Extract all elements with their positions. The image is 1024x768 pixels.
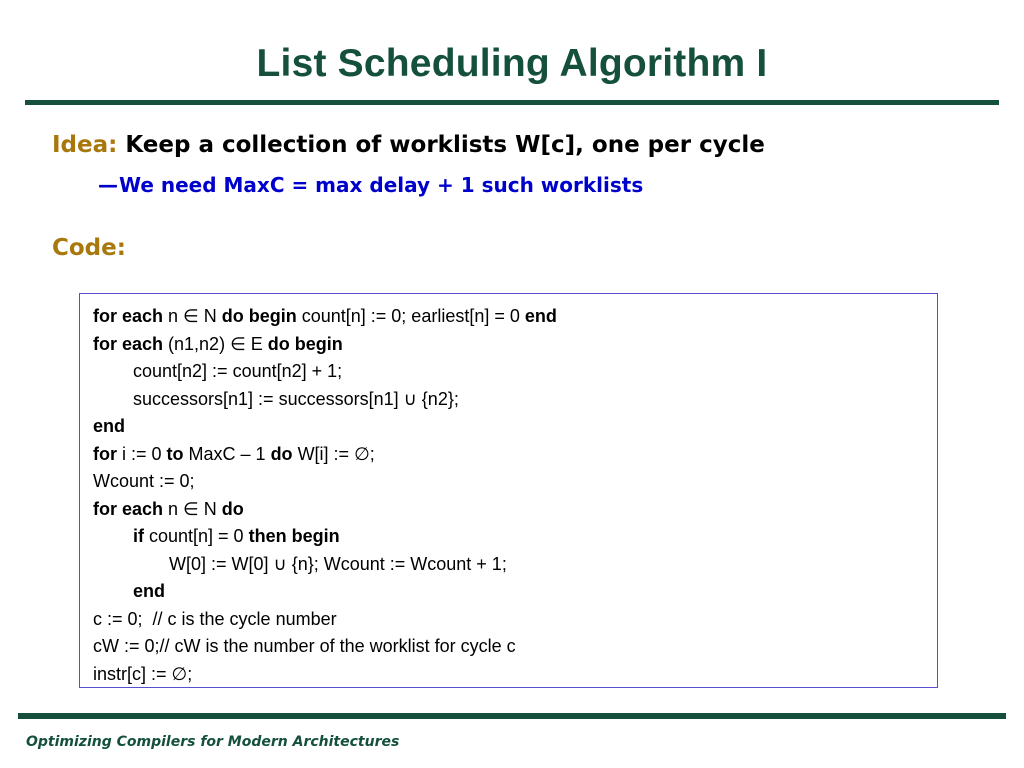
footer-text: Optimizing Compilers for Modern Architec… xyxy=(26,733,399,751)
title-divider xyxy=(25,100,999,105)
code-line: Wcount := 0; xyxy=(93,468,937,496)
code-keyword: do xyxy=(222,499,244,519)
code-block: for each n ∈ N do begin count[n] := 0; e… xyxy=(79,293,938,688)
code-line: c := 0; // c is the cycle number xyxy=(93,606,937,634)
code-line: for each n ∈ N do xyxy=(93,496,937,524)
code-keyword: for each xyxy=(93,334,168,354)
code-text: c := 0; // c is the cycle number xyxy=(93,609,337,629)
bullet-sub-text: We need MaxC = max delay + 1 such workli… xyxy=(119,173,643,197)
code-text: cW := 0;// cW is the number of the workl… xyxy=(93,636,516,656)
code-keyword: for each xyxy=(93,499,168,519)
code-keyword: then begin xyxy=(249,526,340,546)
code-line: cW := 0;// cW is the number of the workl… xyxy=(93,633,937,661)
bullet-idea-text: Keep a collection of worklists W[c], one… xyxy=(117,132,764,158)
code-keyword: end xyxy=(525,306,557,326)
bullet-idea-label: Idea: xyxy=(52,132,117,158)
code-keyword: for each xyxy=(93,306,168,326)
code-line: for i := 0 to MaxC – 1 do W[i] := ∅; xyxy=(93,441,937,469)
code-text: n ∈ N xyxy=(168,306,222,326)
code-text: W[i] := ∅; xyxy=(298,444,375,464)
code-text: n ∈ N xyxy=(168,499,222,519)
code-text: W[0] := W[0] ∪ {n}; Wcount := Wcount + 1… xyxy=(169,554,507,574)
code-text: instr[c] := ∅; xyxy=(93,664,192,684)
code-text: (n1,n2) ∈ E xyxy=(168,334,268,354)
code-keyword: do begin xyxy=(222,306,302,326)
code-line: if count[n] = 0 then begin xyxy=(93,523,937,551)
footer-divider xyxy=(18,713,1006,719)
code-line: instr[c] := ∅; xyxy=(93,661,937,689)
code-line: count[n2] := count[n2] + 1; xyxy=(93,358,937,386)
bullet-dash-icon: — xyxy=(98,173,118,197)
code-text: count[n2] := count[n2] + 1; xyxy=(133,361,342,381)
bullet-code-label: Code: xyxy=(52,233,126,263)
code-line: for each n ∈ N do begin count[n] := 0; e… xyxy=(93,303,937,331)
code-keyword: end xyxy=(93,416,125,436)
code-text: count[n] := 0; earliest[n] = 0 xyxy=(302,306,525,326)
code-keyword: do xyxy=(271,444,298,464)
code-text: successors[n1] := successors[n1] ∪ {n2}; xyxy=(133,389,459,409)
page-title: List Scheduling Algorithm I xyxy=(0,41,1024,87)
code-keyword: end xyxy=(133,581,165,601)
code-keyword: do begin xyxy=(268,334,343,354)
code-keyword: to xyxy=(167,444,189,464)
code-line: end xyxy=(93,413,937,441)
code-text: count[n] = 0 xyxy=(149,526,249,546)
code-line: for each (n1,n2) ∈ E do begin xyxy=(93,331,937,359)
code-keyword: if xyxy=(133,526,149,546)
code-keyword: for xyxy=(93,444,122,464)
code-text: Wcount := 0; xyxy=(93,471,195,491)
code-line-list: for each n ∈ N do begin count[n] := 0; e… xyxy=(80,294,937,688)
code-line: W[0] := W[0] ∪ {n}; Wcount := Wcount + 1… xyxy=(93,551,937,579)
code-text: MaxC – 1 xyxy=(189,444,271,464)
code-text: i := 0 xyxy=(122,444,167,464)
bullet-idea: Idea: Keep a collection of worklists W[c… xyxy=(52,130,765,160)
bullet-sub-maxc: —We need MaxC = max delay + 1 such workl… xyxy=(98,172,643,198)
code-line: end xyxy=(93,578,937,606)
code-line: successors[n1] := successors[n1] ∪ {n2}; xyxy=(93,386,937,414)
